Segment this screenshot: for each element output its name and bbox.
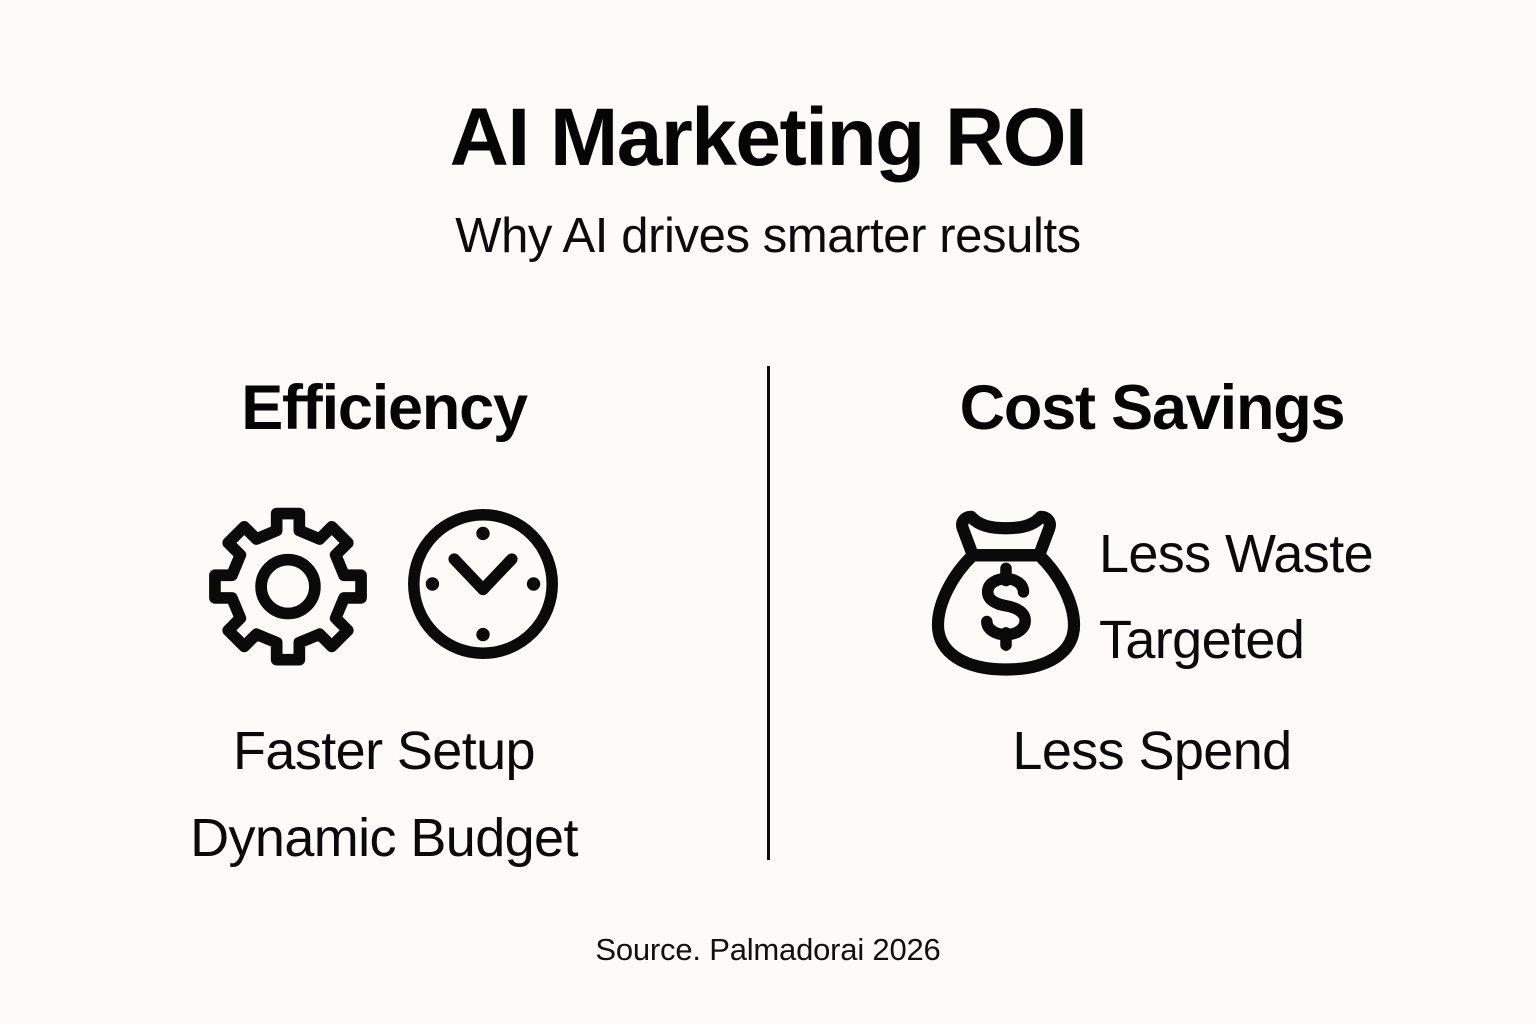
gear-icon xyxy=(207,500,369,668)
efficiency-icon-row xyxy=(0,500,768,668)
columns-container: Efficiency xyxy=(0,372,1536,892)
poster-header: AI Marketing ROI Why AI drives smarter r… xyxy=(0,96,1536,264)
cost-savings-labels-bottom: Less Spend xyxy=(768,708,1536,795)
list-item: Dynamic Budget xyxy=(0,795,768,882)
list-item: Targeted xyxy=(1099,597,1373,683)
cost-savings-labels-top: Less Waste Targeted xyxy=(1099,497,1373,684)
list-item: Less Spend xyxy=(768,708,1536,795)
page-title: AI Marketing ROI xyxy=(0,96,1536,180)
source-caption: Source. Palmadorai 2026 xyxy=(0,932,1536,968)
list-item: Faster Setup xyxy=(0,708,768,795)
cost-savings-bag-block: Less Waste Targeted xyxy=(768,497,1536,684)
column-heading-cost-savings: Cost Savings xyxy=(768,372,1536,444)
column-cost-savings: Cost Savings Less Waste Target xyxy=(768,372,1536,892)
money-bag-icon xyxy=(931,497,1081,680)
list-item: Less Waste xyxy=(1099,511,1373,597)
infographic-poster: AI Marketing ROI Why AI drives smarter r… xyxy=(0,0,1536,1024)
column-efficiency: Efficiency xyxy=(0,372,768,892)
column-heading-efficiency: Efficiency xyxy=(0,372,768,444)
efficiency-labels: Faster Setup Dynamic Budget xyxy=(0,708,768,883)
page-subtitle: Why AI drives smarter results xyxy=(0,208,1536,264)
clock-icon xyxy=(405,500,561,668)
